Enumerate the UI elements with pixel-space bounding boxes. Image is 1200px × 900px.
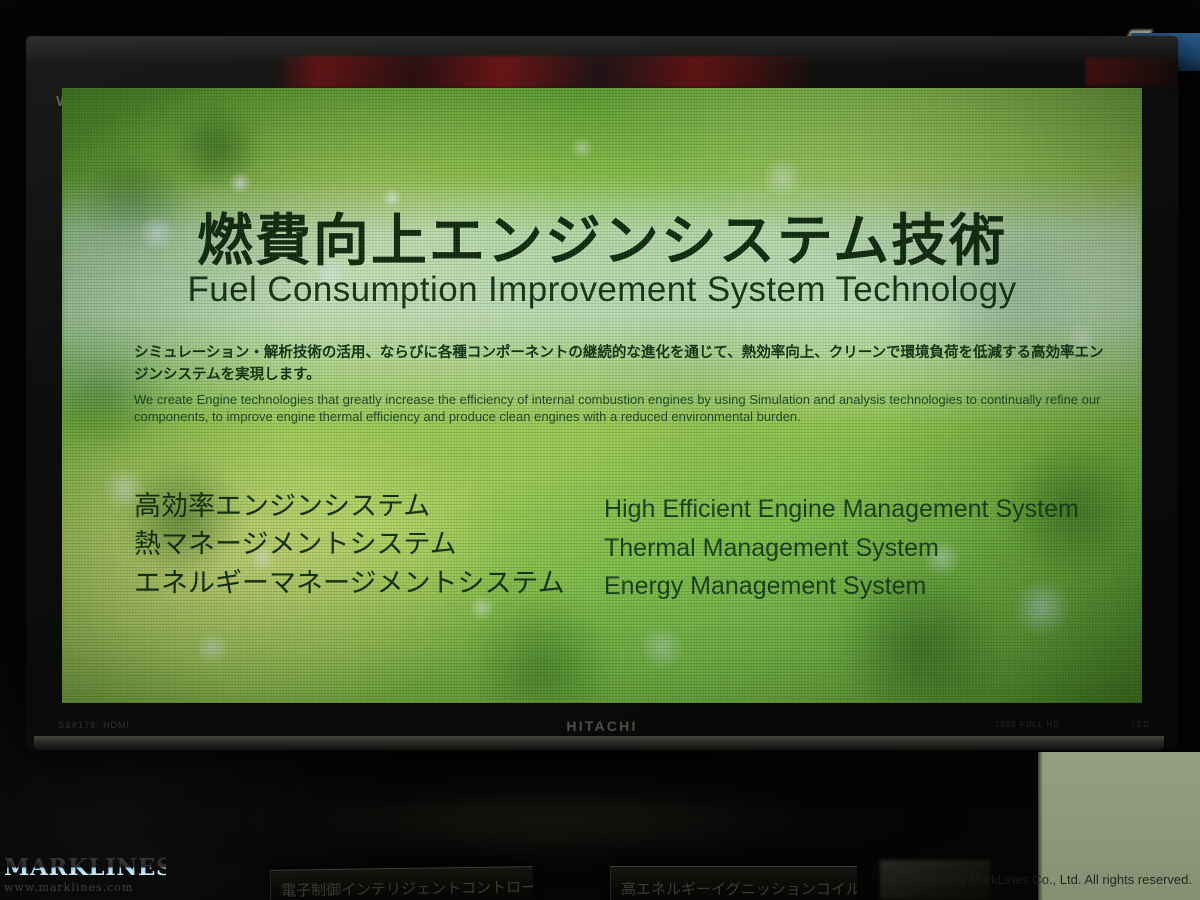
bezel-red-reflection-secondary xyxy=(1086,58,1178,86)
exhibit-placard-right: 高エネルギーイグニッションコイル xyxy=(610,866,857,900)
resolution-label: 1080 FULL HD xyxy=(995,720,1060,729)
slide-system-list: 高効率エンジンシステム 熱マネージメントシステム エネルギーマネージメントシステ… xyxy=(134,488,1112,606)
list-item: 高効率エンジンシステム xyxy=(134,488,604,526)
bezel-gloss-highlight xyxy=(26,36,1178,88)
slide-content: 燃費向上エンジンシステム技術 Fuel Consumption Improvem… xyxy=(62,88,1142,703)
backlight-label: LED xyxy=(1131,720,1150,729)
slide-list-column-english: High Efficient Engine Management System … xyxy=(604,488,1112,606)
list-item: Energy Management System xyxy=(604,567,1112,606)
tv-base-shelf xyxy=(34,736,1164,750)
watermark-brand-name: MarkLines xyxy=(4,856,166,879)
list-item: エネルギーマネージメントシステム xyxy=(134,565,604,603)
slide-body-block: シミュレーション・解析技術の活用、ならびに各種コンポーネントの継続的な進化を通じ… xyxy=(134,343,1104,426)
scene-root: Wooo 燃費向上エンジンシステム技術 Fuel Consumption Imp… xyxy=(0,0,1200,900)
slide-list-column-japanese: 高効率エンジンシステム 熱マネージメントシステム エネルギーマネージメントシステ… xyxy=(134,488,604,606)
list-item: High Efficient Engine Management System xyxy=(604,490,1112,529)
copyright-notice: Copyright (C) MarkLines Co., Ltd. All ri… xyxy=(888,872,1192,887)
floor-reflection xyxy=(120,760,980,880)
watermark-url: www.marklines.com xyxy=(4,881,166,894)
tv-screen: 燃費向上エンジンシステム技術 Fuel Consumption Improvem… xyxy=(62,88,1142,703)
slide-body-japanese: シミュレーション・解析技術の活用、ならびに各種コンポーネントの継続的な進化を通じ… xyxy=(134,343,1104,387)
exhibit-placard-left-label: 電子制御インテリジェントコントロールVTC xyxy=(281,876,533,900)
bezel-red-reflection xyxy=(276,56,816,88)
slide-title-english: Fuel Consumption Improvement System Tech… xyxy=(62,270,1142,310)
exhibit-placard-right-label: 高エネルギーイグニッションコイル xyxy=(621,878,857,899)
slide-title-japanese: 燃費向上エンジンシステム技術 xyxy=(62,196,1142,277)
marklines-watermark: MarkLines www.marklines.com xyxy=(4,856,166,894)
television-unit: Wooo 燃費向上エンジンシステム技術 Fuel Consumption Imp… xyxy=(26,36,1178,748)
slide-body-english: We create Engine technologies that great… xyxy=(134,391,1104,426)
list-item: Thermal Management System xyxy=(604,529,1112,568)
exhibit-placard-left: 電子制御インテリジェントコントロールVTC xyxy=(270,866,533,900)
list-item: 熱マネージメントシステム xyxy=(134,526,604,564)
